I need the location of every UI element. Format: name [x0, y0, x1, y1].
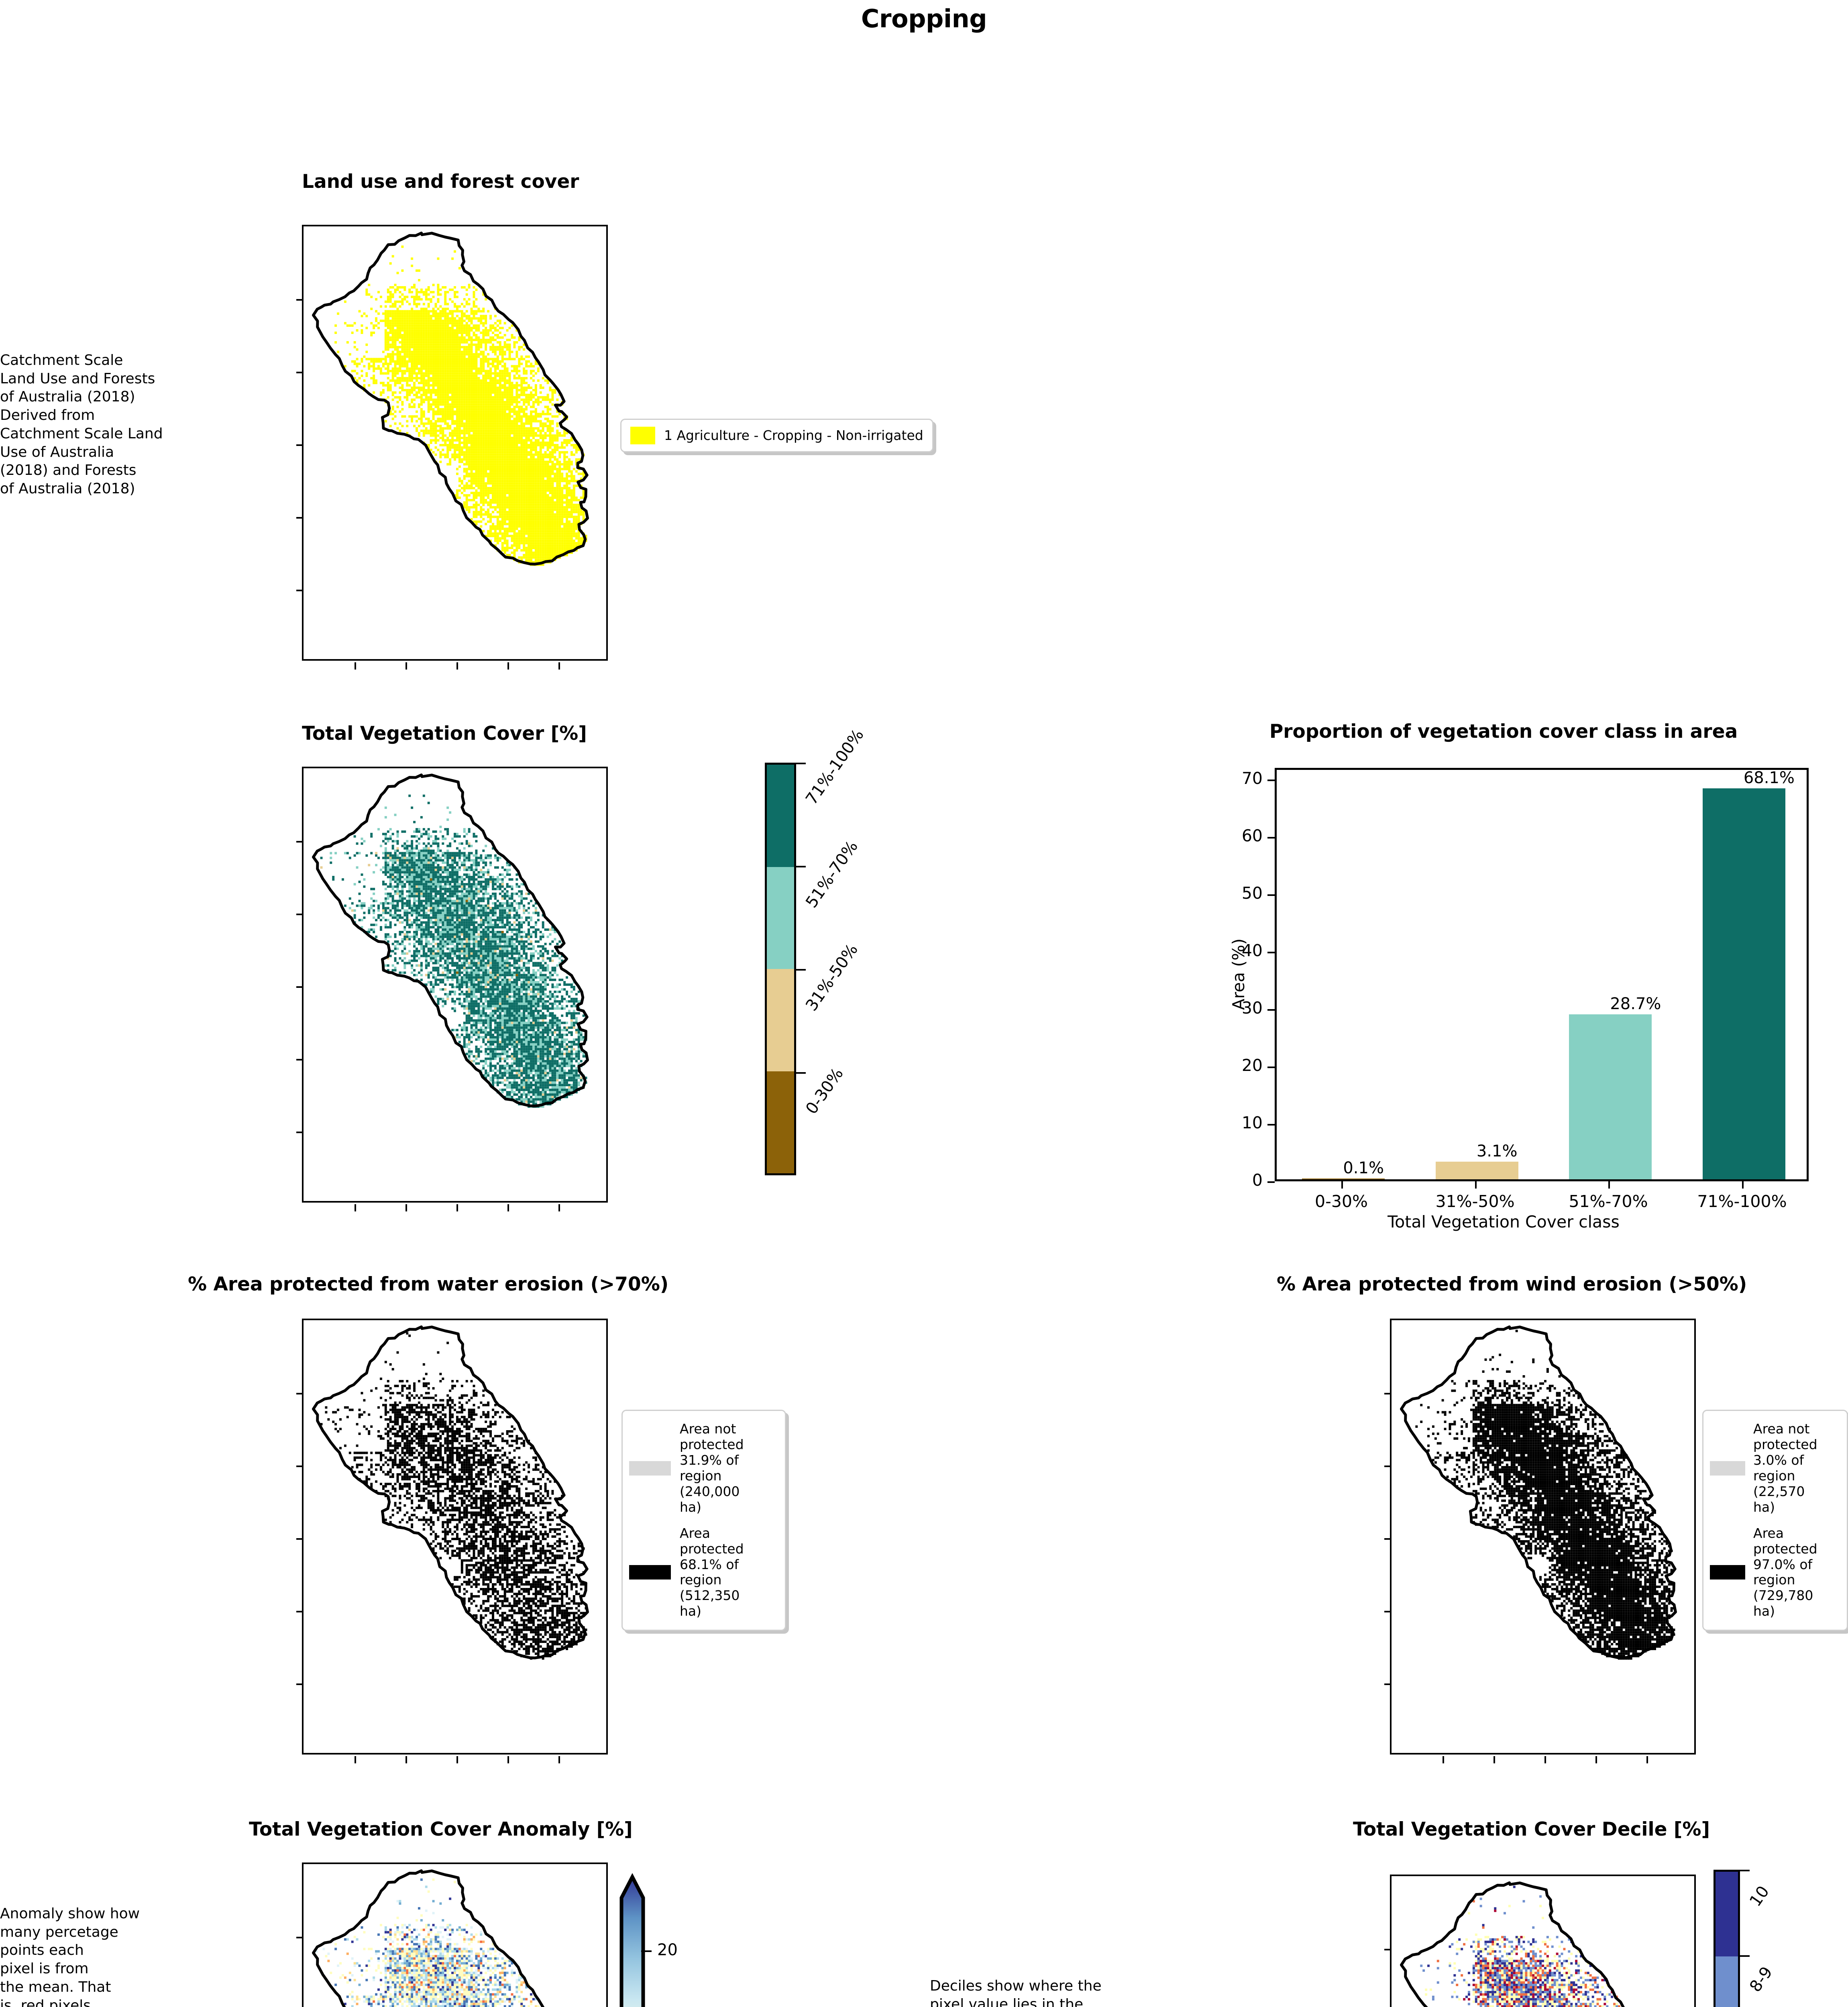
map-x-tick — [1544, 1756, 1546, 1763]
chart-y-tickmark — [1267, 780, 1275, 781]
chart-x-tickmark — [1608, 1181, 1610, 1189]
chart-x-ticklabel: 0-30% — [1277, 1192, 1406, 1211]
legend-row-protected: Area protected 68.1% of region (512,350 … — [629, 1526, 778, 1620]
map-x-tick — [405, 662, 407, 670]
map-x-tick — [1443, 1756, 1444, 1763]
map-y-tick — [1384, 1683, 1392, 1685]
protected-area-pixels — [320, 1332, 587, 1660]
map-x-tick — [456, 1204, 458, 1211]
chart-y-ticklabel: 40 — [1210, 941, 1263, 960]
map-x-tick — [355, 1756, 356, 1763]
map-y-tick — [296, 986, 304, 988]
colorbar-label: 10 — [1746, 1883, 1773, 1910]
legend-row-not-protected: Area not protected 3.0% of region (22,57… — [1710, 1421, 1840, 1515]
chart-x-axis-label: Total Vegetation Cover class — [1188, 1212, 1819, 1231]
legend-row-not-protected: Area not protected 31.9% of region (240,… — [629, 1421, 778, 1515]
map-y-tick — [1384, 1466, 1392, 1467]
map-y-tick — [1384, 1611, 1392, 1612]
colorbar-tick — [795, 763, 806, 764]
legend-swatch-cropping — [630, 427, 655, 444]
legend-swatch-area-not-protected — [1710, 1461, 1745, 1476]
map-x-tick — [507, 1204, 509, 1211]
map-x-tick — [507, 1756, 509, 1763]
chart-y-ticklabel: 10 — [1210, 1113, 1263, 1132]
colorbar-anomaly-tick — [641, 1950, 652, 1952]
colorbar-label: 31%-50% — [802, 940, 862, 1014]
panel-title-wind-erosion: % Area protected from wind erosion (>50%… — [1277, 1273, 1747, 1295]
colorbar-anomaly-body — [621, 1877, 643, 2007]
map-y-tick — [296, 841, 304, 843]
chart-title: Proportion of vegetation cover class in … — [1188, 721, 1819, 743]
map-y-tick — [296, 444, 304, 446]
map-tvc-svg — [304, 768, 606, 1201]
chart-bar[interactable] — [1703, 788, 1785, 1179]
chart-bar-label: 3.1% — [1477, 1142, 1518, 1160]
colorbar-tick — [795, 1072, 806, 1074]
chart-bar-label: 28.7% — [1610, 995, 1661, 1013]
catchment-boundary — [313, 1327, 587, 1658]
map-y-tick — [296, 299, 304, 301]
chart-bar-label: 68.1% — [1744, 769, 1795, 787]
chart-plot-area — [1275, 768, 1809, 1181]
colorbar-anomaly[interactable] — [619, 1871, 645, 2007]
map-x-tick — [456, 1756, 458, 1763]
map-x-tick — [355, 1204, 356, 1211]
colorbar-label: 8-9 — [1746, 1963, 1776, 1995]
chart-y-axis-label: Area (%) — [1229, 894, 1248, 1054]
map-y-tick — [296, 1466, 304, 1467]
anomaly-pixels — [316, 1879, 587, 2007]
panel-title-total-veg-cover: Total Vegetation Cover [%] — [302, 723, 587, 745]
chart-bar[interactable] — [1436, 1162, 1518, 1179]
colorbar-segment — [1716, 1872, 1738, 1956]
map-y-tick — [296, 517, 304, 519]
colorbar-decile[interactable] — [1714, 1870, 1740, 2007]
colorbar-segment — [1716, 1956, 1738, 2007]
map-y-tick — [1384, 1538, 1392, 1540]
legend-swatch-area-not-protected — [629, 1461, 671, 1476]
legend-wind-erosion[interactable]: Area not protected 3.0% of region (22,57… — [1702, 1410, 1848, 1631]
colorbar-tick — [1739, 1955, 1750, 1957]
map-y-tick — [296, 914, 304, 915]
map-land-use-and-forest-cover[interactable] — [302, 225, 608, 661]
panel-title-anomaly: Total Vegetation Cover Anomaly [%] — [249, 1818, 633, 1840]
panel-title-land-use: Land use and forest cover — [302, 171, 579, 193]
legend-label-area-not-protected: Area not protected 3.0% of region (22,57… — [1753, 1421, 1817, 1515]
map-anomaly-svg — [304, 1864, 606, 2007]
legend-swatch-area-protected — [629, 1565, 671, 1580]
chart-y-ticklabel: 30 — [1210, 998, 1263, 1018]
anomaly-explanation-note: Anomaly show how many percetage points e… — [0, 1905, 169, 2007]
map-x-tick — [558, 1204, 560, 1211]
map-y-tick — [296, 1393, 304, 1394]
colorbar-label: 0-30% — [802, 1065, 847, 1117]
colorbar-tick — [1739, 1870, 1750, 1871]
map-x-tick — [456, 662, 458, 670]
map-y-tick — [1384, 1393, 1392, 1394]
map-total-vegetation-cover-anomaly[interactable] — [302, 1862, 608, 2007]
legend-row-protected: Area protected 97.0% of region (729,780 … — [1710, 1526, 1840, 1620]
bar-chart-proportion-of-vegetation-cover-class[interactable]: Proportion of vegetation cover class in … — [1188, 721, 1819, 1242]
colorbar-segment — [767, 1071, 794, 1174]
chart-x-ticklabel: 71%-100% — [1678, 1192, 1806, 1211]
chart-y-tickmark — [1267, 1124, 1275, 1126]
colorbar-label: 71%-100% — [802, 726, 868, 808]
chart-bar[interactable] — [1302, 1179, 1385, 1179]
map-x-tick — [558, 662, 560, 670]
legend-land-use[interactable]: 1 Agriculture - Cropping - Non-irrigated — [620, 419, 933, 452]
panel-title-water-erosion: % Area protected from water erosion (>70… — [188, 1273, 668, 1295]
colorbar-segment — [767, 867, 794, 969]
chart-y-ticklabel: 0 — [1210, 1170, 1263, 1190]
map-y-tick — [296, 1683, 304, 1685]
map-y-tick — [296, 372, 304, 373]
cropping-pixels — [334, 246, 587, 566]
protected-area-pixels — [1415, 1330, 1675, 1660]
map-y-tick — [296, 1937, 304, 1938]
map-x-tick — [405, 1756, 407, 1763]
land-use-source-note: Catchment Scale Land Use and Forests of … — [0, 351, 173, 498]
colorbar-total-vegetation-cover[interactable] — [765, 763, 796, 1175]
colorbar-anomaly-svg — [619, 1871, 645, 2007]
map-x-tick — [1493, 1756, 1495, 1763]
chart-y-tickmark — [1267, 837, 1275, 839]
map-area-protected-from-water-erosion[interactable] — [302, 1319, 608, 1755]
chart-y-tickmark — [1267, 894, 1275, 896]
chart-y-ticklabel: 60 — [1210, 826, 1263, 845]
chart-x-ticklabel: 31%-50% — [1411, 1192, 1539, 1211]
map-x-tick — [355, 662, 356, 670]
colorbar-label: 51%-70% — [802, 837, 862, 911]
legend-label-area-protected: Area protected 97.0% of region (729,780 … — [1753, 1526, 1817, 1620]
map-x-tick — [405, 1204, 407, 1211]
map-y-tick — [296, 1611, 304, 1612]
map-water-svg — [304, 1320, 606, 1753]
colorbar-tick — [795, 969, 806, 971]
map-total-vegetation-cover[interactable] — [302, 767, 608, 1203]
map-y-tick — [296, 1132, 304, 1133]
map-area-protected-from-wind-erosion[interactable] — [1390, 1319, 1696, 1755]
chart-bar-label: 0.1% — [1343, 1159, 1384, 1177]
map-x-tick — [558, 1756, 560, 1763]
colorbar-anomaly-label: 20 — [657, 1941, 678, 1959]
colorbar-segment — [767, 765, 794, 867]
page-title: Cropping — [0, 4, 1848, 33]
map-decile-svg — [1392, 1876, 1694, 2007]
legend-water-erosion[interactable]: Area not protected 31.9% of region (240,… — [621, 1410, 786, 1631]
decile-explanation-note: Deciles show where the pixel value lies … — [930, 1977, 1131, 2007]
map-x-tick — [1646, 1756, 1648, 1763]
map-y-tick — [296, 1538, 304, 1540]
map-wind-svg — [1392, 1320, 1694, 1753]
chart-x-tickmark — [1742, 1181, 1744, 1189]
legend-label-area-protected: Area protected 68.1% of region (512,350 … — [680, 1526, 744, 1620]
chart-y-tickmark — [1267, 1009, 1275, 1011]
colorbar-tick — [795, 866, 806, 867]
chart-x-ticklabel: 51%-70% — [1544, 1192, 1673, 1211]
map-y-tick — [296, 590, 304, 591]
decile-pixels — [1420, 1886, 1675, 2007]
chart-x-tickmark — [1475, 1181, 1477, 1189]
legend-label-area-not-protected: Area not protected 31.9% of region (240,… — [680, 1421, 744, 1515]
map-land-use-svg — [304, 226, 606, 659]
chart-y-tickmark — [1267, 1181, 1275, 1183]
map-x-tick — [507, 662, 509, 670]
chart-y-tickmark — [1267, 1067, 1275, 1068]
chart-y-ticklabel: 50 — [1210, 883, 1263, 903]
colorbar-segment — [767, 969, 794, 1071]
chart-y-ticklabel: 20 — [1210, 1056, 1263, 1075]
chart-x-tickmark — [1341, 1181, 1343, 1189]
map-y-tick — [1384, 1949, 1392, 1950]
map-total-vegetation-cover-decile[interactable] — [1390, 1875, 1696, 2007]
chart-y-tickmark — [1267, 952, 1275, 953]
map-x-tick — [1595, 1756, 1597, 1763]
chart-bar[interactable] — [1569, 1014, 1652, 1179]
legend-label-cropping: 1 Agriculture - Cropping - Non-irrigated — [664, 428, 923, 444]
vegetation-cover-pixels — [320, 795, 587, 1108]
chart-y-ticklabel: 70 — [1210, 769, 1263, 788]
legend-swatch-area-protected — [1710, 1565, 1745, 1580]
map-y-tick — [296, 1059, 304, 1060]
panel-title-decile: Total Vegetation Cover Decile [%] — [1353, 1818, 1710, 1840]
